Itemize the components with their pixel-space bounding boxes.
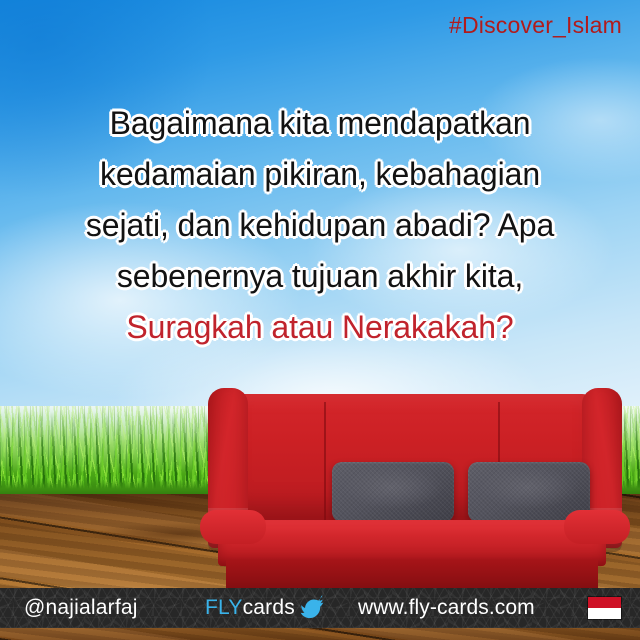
image-card: #Discover_Islam Bagaimana kita mendapatk… <box>0 0 640 640</box>
indonesia-flag-icon <box>588 597 621 619</box>
sofa-pillow-left <box>332 462 454 522</box>
website-url: www.fly-cards.com <box>358 596 535 620</box>
author-handle: @najialarfaj <box>24 596 138 620</box>
quote-block: Bagaimana kita mendapatkan kedamaian pik… <box>0 98 640 353</box>
brand-primary-text: FLY <box>205 596 243 619</box>
flag-stripe-white <box>588 608 621 619</box>
brand-secondary-text: cards <box>243 596 295 619</box>
quote-line-2: kedamaian pikiran, kebahagian <box>0 149 640 200</box>
sofa-seam-left <box>324 402 326 526</box>
hashtag-label: #Discover_Islam <box>449 12 622 39</box>
quote-line-3: sejati, dan kehidupan abadi? Apa <box>0 200 640 251</box>
brand-logo-text: FLYcards <box>205 596 295 620</box>
footer-bar: @najialarfaj FLYcards www.fly-cards.com <box>0 588 640 628</box>
quote-line-accent: Suragkah atau Nerakakah? <box>0 302 640 353</box>
quote-line-1: Bagaimana kita mendapatkan <box>0 98 640 149</box>
sofa-armrest-right <box>564 510 630 544</box>
bird-icon <box>300 595 327 619</box>
pillow-texture-left <box>332 462 454 522</box>
red-sofa <box>200 388 630 600</box>
quote-line-4: sebenernya tujuan akhir kita, <box>0 251 640 302</box>
sofa-armrest-left <box>200 510 266 544</box>
flag-stripe-red <box>588 597 621 608</box>
